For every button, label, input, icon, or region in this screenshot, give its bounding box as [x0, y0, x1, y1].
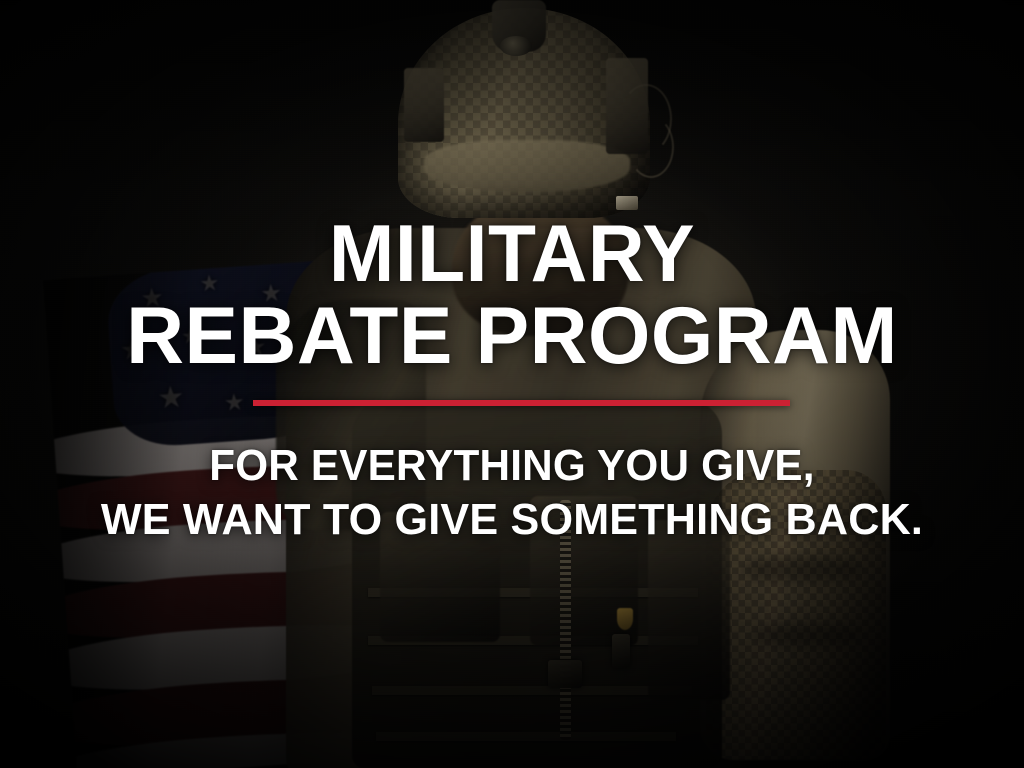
sleeve-fold	[742, 556, 862, 582]
background-photo-soldier: ★ ★ ★ ★ ★ ★ ★ ★ ★ ★	[0, 0, 1024, 768]
helmet-id-patch	[616, 196, 638, 210]
sleeve-fold	[752, 624, 862, 646]
helmet-brim	[424, 140, 630, 192]
military-rebate-poster: ★ ★ ★ ★ ★ ★ ★ ★ ★ ★	[0, 0, 1024, 768]
vest-pouch	[380, 512, 500, 642]
digital-camouflage-sleeve	[706, 470, 886, 760]
vest-buckle	[612, 634, 630, 668]
helmet-cable	[628, 116, 674, 178]
molle-webbing	[372, 686, 692, 695]
vest-pull-tab	[617, 608, 633, 630]
helmet-side-rail	[404, 68, 444, 142]
molle-webbing	[376, 732, 676, 741]
vest-buckle	[548, 660, 582, 688]
vest-pouch	[648, 520, 730, 700]
night-vision-knob	[500, 36, 532, 56]
vest-zipper	[560, 500, 571, 740]
